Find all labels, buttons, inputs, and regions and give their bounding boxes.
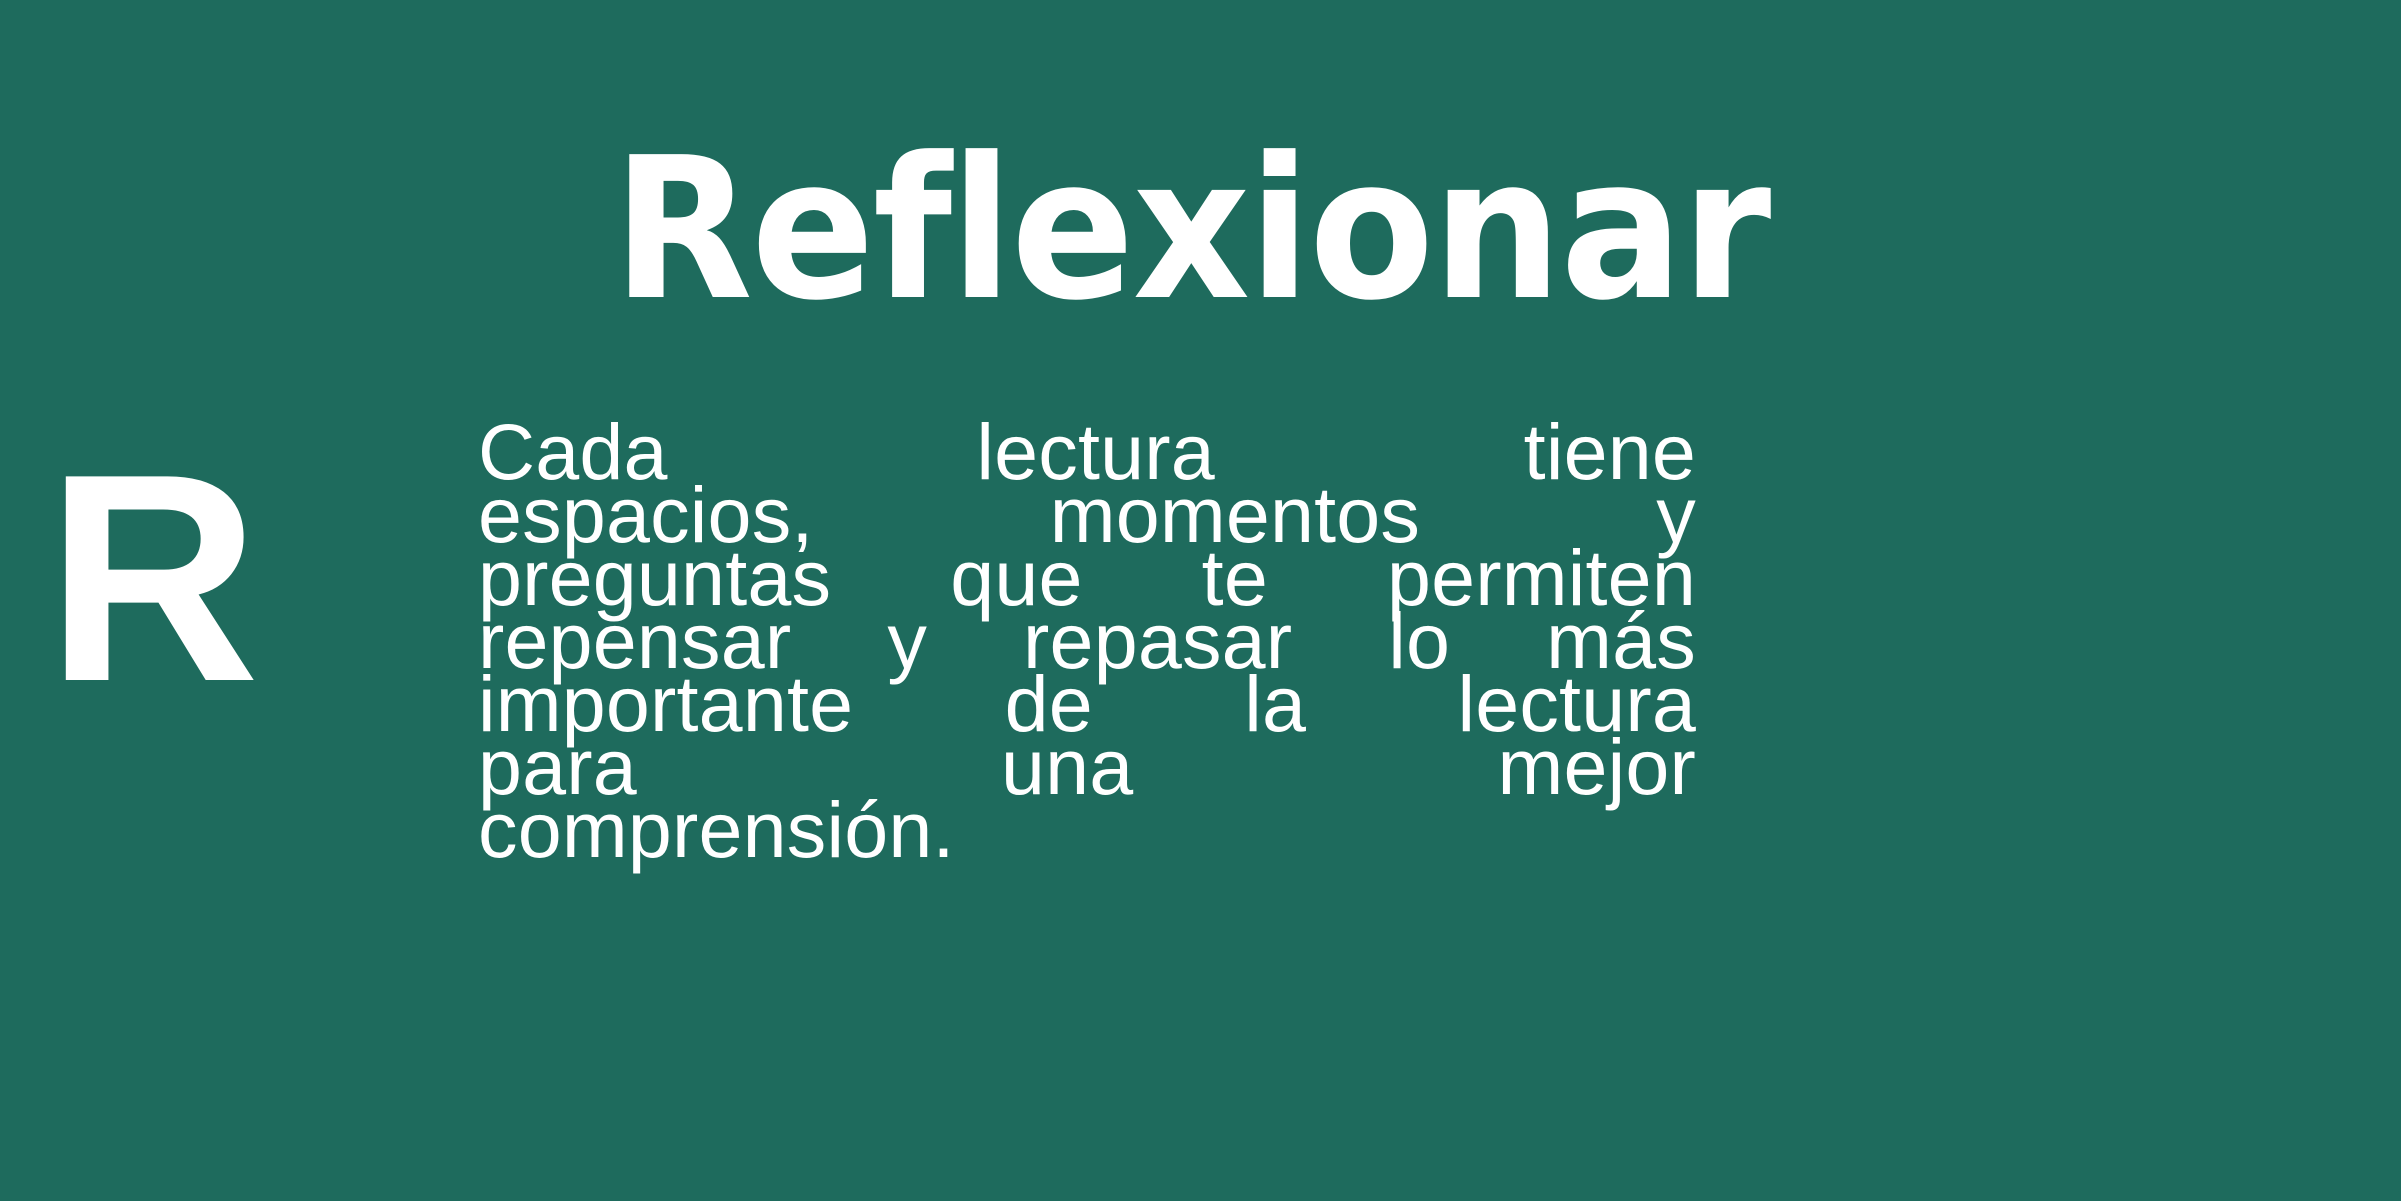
page-title: Reflexionar <box>612 132 1769 328</box>
body-word: una <box>1001 735 1133 798</box>
title-container: Reflexionar <box>0 0 2401 320</box>
body-paragraph: Cada lectura tiene espacios, momentos y … <box>478 420 1696 861</box>
body-word: lo <box>1388 609 1450 672</box>
body-word: comprensión. <box>478 798 955 861</box>
drop-cap-letter: R <box>46 428 376 728</box>
body-word: mejor <box>1497 735 1696 798</box>
body-word: la <box>1244 672 1306 735</box>
body-word: y <box>887 609 927 672</box>
slide-canvas: Reflexionar R Cada lectura tiene espacio… <box>0 0 2401 1201</box>
